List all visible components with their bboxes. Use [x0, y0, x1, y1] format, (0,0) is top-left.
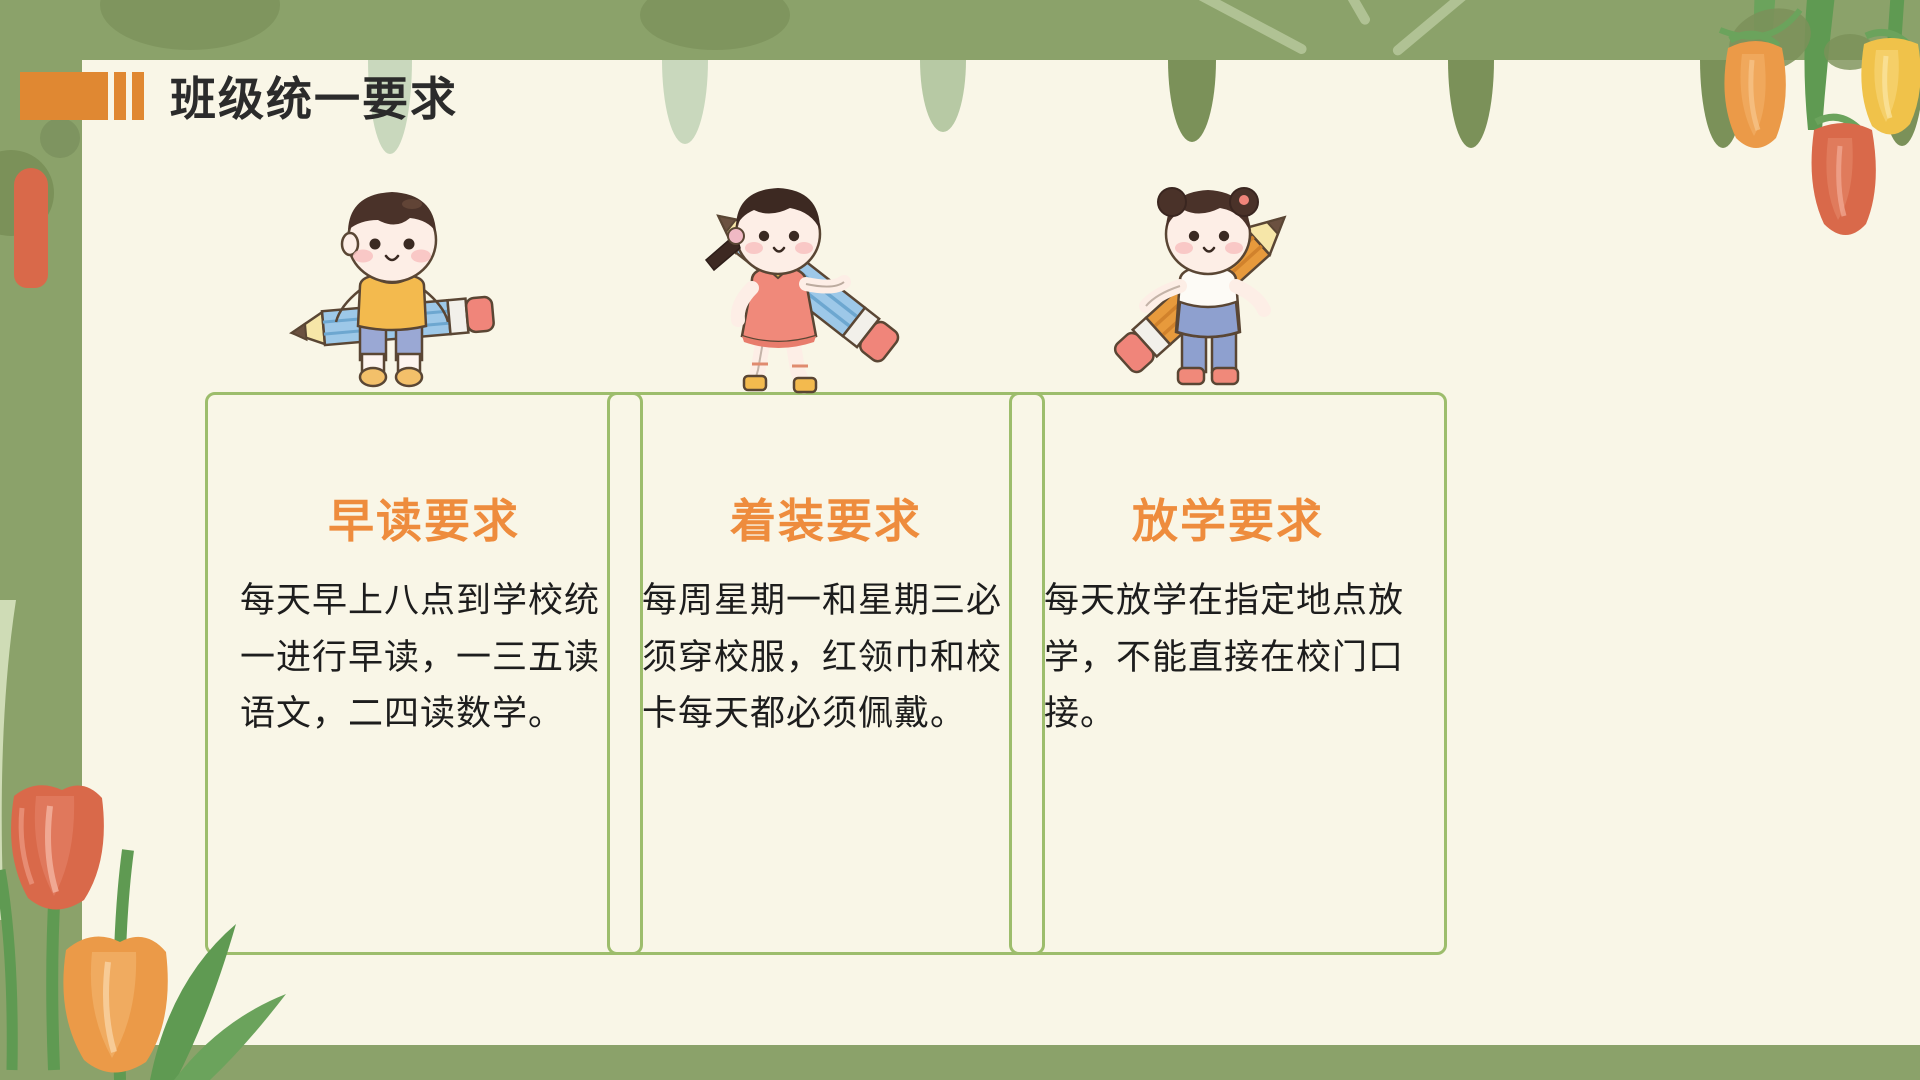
card-2-illustration: [678, 186, 918, 406]
card-title-2: 着装要求: [628, 485, 1024, 551]
card-1-illustration: [278, 178, 508, 398]
title-accent-tick-1: [114, 72, 126, 120]
left-orange-petal: [14, 168, 48, 288]
bottom-left-tulip-cluster: [0, 600, 300, 1080]
paper-corner-nub: [40, 118, 80, 158]
card-title-3: 放学要求: [1030, 485, 1426, 551]
page-title-row: 班级统一要求: [20, 68, 458, 124]
slide-root: 班级统一要求: [0, 0, 1920, 1080]
card-body-3: 每天放学在指定地点放学，不能直接在校门口接。: [1030, 573, 1426, 743]
card-title-1: 早读要求: [226, 485, 622, 551]
right-tulip-cluster: [1660, 0, 1920, 320]
requirement-card-dress-code[interactable]: 着装要求 每周星期一和星期三必须穿校服，红领巾和校卡每天都必须佩戴。: [607, 392, 1045, 955]
title-accent-tick-2: [132, 72, 144, 120]
page-title: 班级统一要求: [170, 63, 458, 129]
requirement-card-dismissal[interactable]: 放学要求 每天放学在指定地点放学，不能直接在校门口接。: [1009, 392, 1447, 955]
card-content-3: 放学要求 每天放学在指定地点放学，不能直接在校门口接。: [1012, 485, 1444, 743]
card-3-illustration: [1098, 186, 1338, 406]
card-content-2: 着装要求 每周星期一和星期三必须穿校服，红领巾和校卡每天都必须佩戴。: [610, 485, 1042, 743]
title-accent-bar: [20, 72, 108, 120]
card-body-2: 每周星期一和星期三必须穿校服，红领巾和校卡每天都必须佩戴。: [628, 573, 1024, 743]
